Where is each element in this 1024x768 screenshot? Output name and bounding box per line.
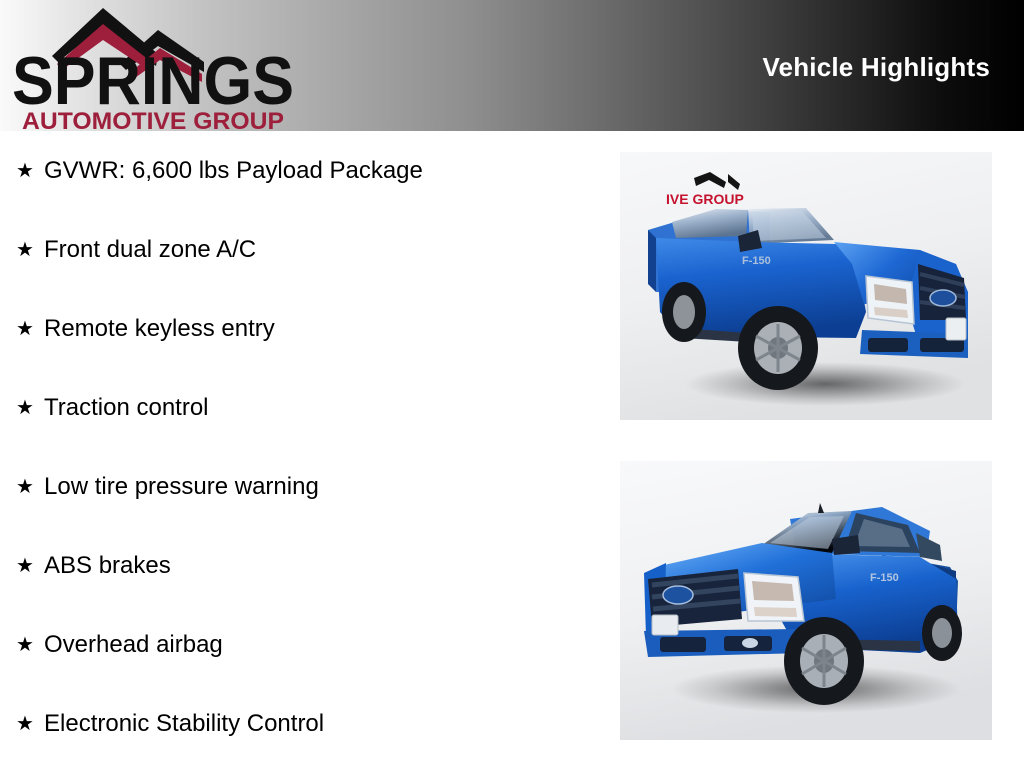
list-item: ★ ABS brakes xyxy=(12,545,602,624)
logo-subbrand-text: AUTOMOTIVE GROUP xyxy=(22,108,284,132)
list-item: ★ Low tire pressure warning xyxy=(12,466,602,545)
star-icon: ★ xyxy=(12,314,44,344)
star-icon: ★ xyxy=(12,551,44,581)
page-title: Vehicle Highlights xyxy=(762,52,990,83)
star-icon: ★ xyxy=(12,630,44,660)
vehicle-photo-front-passenger-quarter: F-150 IVE GROUP xyxy=(620,152,992,420)
list-item-label: ABS brakes xyxy=(44,551,171,581)
vehicle-highlights-slide: Vehicle Highlights SPRINGS AUTOMOTIVE GR… xyxy=(0,0,1024,768)
list-item-label: Low tire pressure warning xyxy=(44,472,319,502)
star-icon: ★ xyxy=(12,235,44,265)
vehicle-photo-front-driver-quarter: F-150 xyxy=(620,461,992,740)
star-icon: ★ xyxy=(12,709,44,739)
list-item: ★ Front dual zone A/C xyxy=(12,229,602,308)
dealership-logo: SPRINGS AUTOMOTIVE GROUP xyxy=(8,4,298,132)
list-item: ★ Overhead airbag xyxy=(12,624,602,703)
star-icon: ★ xyxy=(12,472,44,502)
list-item-label: Remote keyless entry xyxy=(44,314,275,344)
star-icon: ★ xyxy=(12,156,44,186)
list-item: ★ Electronic Stability Control xyxy=(12,703,602,768)
highlights-list: ★ GVWR: 6,600 lbs Payload Package ★ Fron… xyxy=(12,150,602,768)
list-item: ★ GVWR: 6,600 lbs Payload Package xyxy=(12,150,602,229)
svg-text:F-150: F-150 xyxy=(870,572,899,584)
list-item: ★ Traction control xyxy=(12,387,602,466)
list-item-label: Traction control xyxy=(44,393,209,423)
list-item-label: Overhead airbag xyxy=(44,630,223,660)
list-item: ★ Remote keyless entry xyxy=(12,308,602,387)
list-item-label: Electronic Stability Control xyxy=(44,709,324,739)
svg-text:F-150: F-150 xyxy=(742,255,771,267)
list-item-label: GVWR: 6,600 lbs Payload Package xyxy=(44,156,423,186)
list-item-label: Front dual zone A/C xyxy=(44,235,256,265)
star-icon: ★ xyxy=(12,393,44,423)
